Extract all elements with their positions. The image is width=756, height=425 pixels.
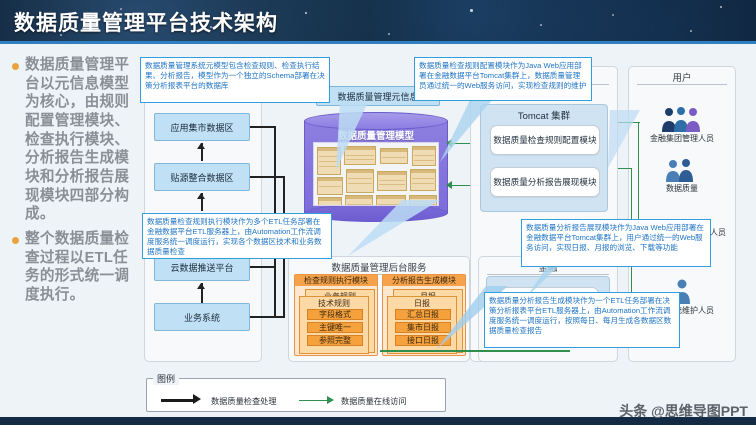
slide-root: 数据质量管理平台技术架构 数据质量管理平台以元信息模型为核心，由规则配置管理模块… — [0, 0, 756, 425]
bullet-text: 数据质量管理平台以元信息模型为核心，由规则配置管理模块、检查执行模块、分析报告生… — [25, 56, 132, 224]
bullet-item: 整个数据质量检查过程以ETL任务的形式统一调度执行。 — [8, 230, 132, 305]
bullet-item: 数据质量管理平台以元信息模型为核心，由规则配置管理模块、检查执行模块、分析报告生… — [8, 56, 132, 224]
callout-rule-config[interactable]: 数据质量检查规则配置模块作为Java Web应用部署在金融数据平台Tomcat集… — [414, 57, 592, 101]
watermark: 头条 @思维导图PPT — [619, 401, 748, 421]
callout-rule-exec[interactable]: 数据质量检查规则执行模块作为多个ETL任务部署在金融数据平台ETL服务器上，由A… — [142, 213, 332, 259]
bullet-list: 数据质量管理平台以元信息模型为核心，由规则配置管理模块、检查执行模块、分析报告生… — [8, 56, 132, 311]
bullet-dot-icon — [12, 237, 19, 244]
page-title: 数据质量管理平台技术架构 — [14, 7, 278, 37]
callout-report-gen[interactable]: 数据质量分析报告生成模块作为一个ETL任务部署在决策分析报表平台ETL服务器上，… — [484, 292, 680, 348]
slide-title-bar: 数据质量管理平台技术架构 — [0, 0, 756, 44]
bullet-dot-icon — [12, 63, 19, 70]
callout-meta-model[interactable]: 数据质量管理系统元模型包含检查规则、检查执行结果、分析报告，模型作为一个独立的S… — [140, 57, 330, 103]
callout-report-display[interactable]: 数据质量分析报告展现模块作为Java Web应用部署在金融数据平台Tomcat集… — [521, 219, 711, 267]
bullet-text: 整个数据质量检查过程以ETL任务的形式统一调度执行。 — [25, 230, 132, 305]
